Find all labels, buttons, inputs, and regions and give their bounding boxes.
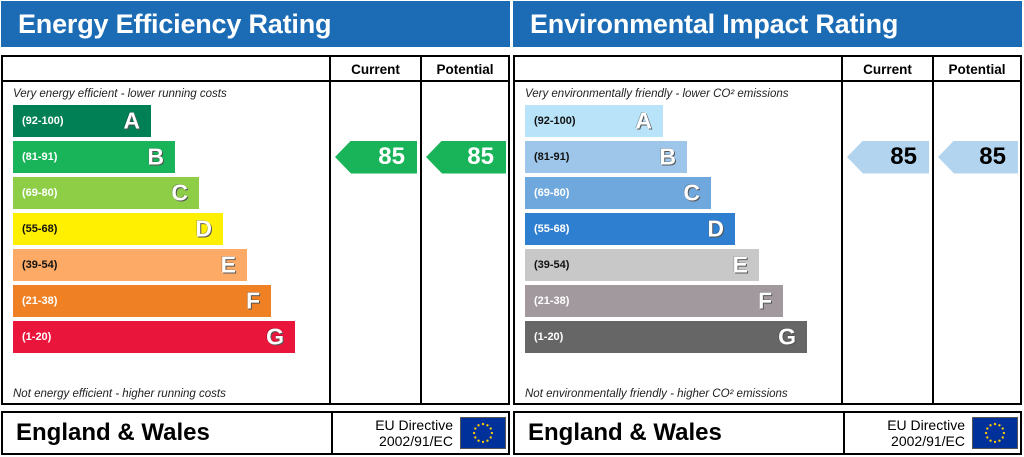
band-bar-a: (92-100)A: [13, 105, 151, 137]
band-range-e: (39-54): [22, 259, 57, 271]
band-bar-d: (55-68)D: [13, 213, 223, 245]
energy-footer: England & Wales EU Directive 2002/91/EC: [1, 411, 510, 455]
energy-directive-line1: EU Directive: [375, 417, 453, 433]
band-bar-d: (55-68)D: [525, 213, 735, 245]
potential-rating-arrow: 85: [426, 141, 506, 174]
eu-flag-icon: [460, 417, 506, 449]
band-range-g: (1-20): [534, 331, 563, 343]
band-range-d: (55-68): [22, 223, 57, 235]
environmental-potential-header: Potential: [934, 57, 1020, 82]
band-range-f: (21-38): [22, 295, 57, 307]
band-letter-b: B: [659, 144, 676, 171]
environmental-footer: England & Wales EU Directive 2002/91/EC: [513, 411, 1022, 455]
environmental-directive-line1: EU Directive: [887, 417, 965, 433]
energy-footer-divider: [331, 413, 333, 453]
environmental-divider-2: [932, 57, 934, 403]
environmental-current-header: Current: [843, 57, 932, 82]
band-bar-b: (81-91)B: [525, 141, 687, 173]
band-bar-e: (39-54)E: [525, 249, 759, 281]
band-bar-e: (39-54)E: [13, 249, 247, 281]
band-letter-e: E: [221, 252, 236, 279]
environmental-bottom-caption: Not environmentally friendly - higher CO…: [525, 388, 788, 400]
energy-efficiency-title-bar: Energy Efficiency Rating: [1, 1, 510, 47]
energy-efficiency-panel: Energy Efficiency Rating Current Potenti…: [0, 0, 512, 457]
band-letter-a: A: [635, 108, 652, 135]
potential-rating-arrow: 85: [938, 141, 1018, 174]
energy-region-label: England & Wales: [16, 419, 210, 447]
current-rating-arrow: 85: [847, 141, 929, 174]
band-letter-b: B: [147, 144, 164, 171]
eu-flag-icon: [972, 417, 1018, 449]
band-letter-d: D: [707, 216, 724, 243]
band-bar-f: (21-38)F: [13, 285, 271, 317]
current-rating-arrow: 85: [335, 141, 417, 174]
environmental-top-caption: Very environmentally friendly - lower CO…: [525, 88, 789, 100]
band-range-a: (92-100): [22, 115, 64, 127]
environmental-region-label: England & Wales: [528, 419, 722, 447]
band-letter-c: C: [683, 180, 700, 207]
band-range-a: (92-100): [534, 115, 576, 127]
epc-certificate-chart: Energy Efficiency Rating Current Potenti…: [0, 0, 1024, 457]
band-bar-c: (69-80)C: [13, 177, 199, 209]
band-range-b: (81-91): [22, 151, 57, 163]
band-bar-c: (69-80)C: [525, 177, 711, 209]
environmental-divider-1: [841, 57, 843, 403]
band-letter-g: G: [266, 324, 284, 351]
energy-divider-1: [329, 57, 331, 403]
band-range-c: (69-80): [534, 187, 569, 199]
band-bar-f: (21-38)F: [525, 285, 783, 317]
environmental-impact-title-bar: Environmental Impact Rating: [513, 1, 1022, 47]
environmental-directive-label: EU Directive 2002/91/EC: [855, 417, 965, 449]
band-letter-g: G: [778, 324, 796, 351]
energy-bottom-caption: Not energy efficient - higher running co…: [13, 388, 226, 400]
band-bar-g: (1-20)G: [13, 321, 295, 353]
band-bar-g: (1-20)G: [525, 321, 807, 353]
energy-efficiency-grid: Current Potential Very energy efficient …: [1, 55, 510, 405]
energy-potential-header: Potential: [422, 57, 508, 82]
band-letter-d: D: [195, 216, 212, 243]
energy-efficiency-title: Energy Efficiency Rating: [18, 9, 331, 40]
band-letter-f: F: [246, 288, 260, 315]
environmental-footer-divider: [843, 413, 845, 453]
band-letter-c: C: [171, 180, 188, 207]
band-bar-a: (92-100)A: [525, 105, 663, 137]
environmental-impact-panel: Environmental Impact Rating Current Pote…: [512, 0, 1024, 457]
energy-divider-2: [420, 57, 422, 403]
band-bar-b: (81-91)B: [13, 141, 175, 173]
band-range-e: (39-54): [534, 259, 569, 271]
band-range-c: (69-80): [22, 187, 57, 199]
band-range-f: (21-38): [534, 295, 569, 307]
energy-directive-label: EU Directive 2002/91/EC: [343, 417, 453, 449]
band-range-b: (81-91): [534, 151, 569, 163]
environmental-directive-line2: 2002/91/EC: [891, 433, 965, 449]
band-letter-f: F: [758, 288, 772, 315]
energy-current-header: Current: [331, 57, 420, 82]
energy-directive-line2: 2002/91/EC: [379, 433, 453, 449]
band-range-g: (1-20): [22, 331, 51, 343]
environmental-impact-grid: Current Potential Very environmentally f…: [513, 55, 1022, 405]
band-letter-e: E: [733, 252, 748, 279]
band-range-d: (55-68): [534, 223, 569, 235]
band-letter-a: A: [123, 108, 140, 135]
environmental-impact-title: Environmental Impact Rating: [530, 9, 898, 40]
energy-top-caption: Very energy efficient - lower running co…: [13, 88, 227, 100]
